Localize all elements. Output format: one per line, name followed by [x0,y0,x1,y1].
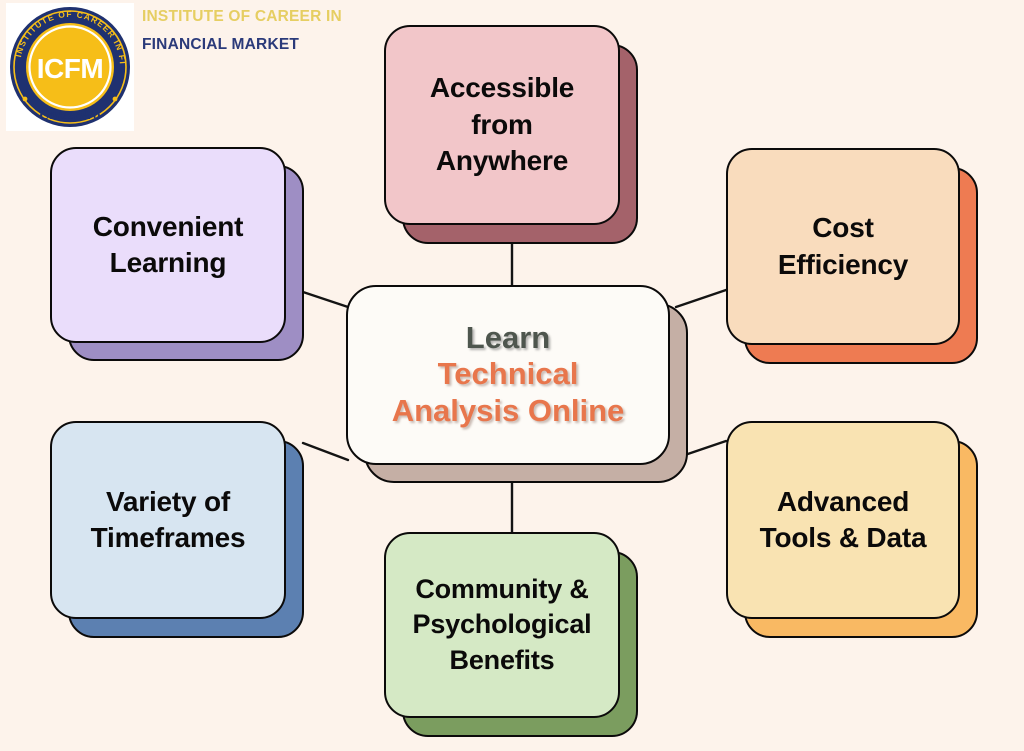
node-center-topic[interactable]: Learn Technical Analysis Online [346,285,670,465]
brand-line-1: INSTITUTE OF CAREER IN [142,7,342,26]
diagram-canvas: INSTITUTE OF CAREER IN FINANCIAL MARKET … [0,0,1024,751]
node-label-accessible-from-anywhere: Accessible from Anywhere [420,70,584,179]
node-community-and-psychological-benefits[interactable]: Community & Psychological Benefits [384,532,620,718]
icfm-logo: INSTITUTE OF CAREER IN FINANCIAL MARKET … [6,3,134,131]
brand-line-2: FINANCIAL MARKET [142,35,342,54]
center-label-line-1: Learn [466,320,550,356]
node-accessible-from-anywhere[interactable]: Accessible from Anywhere [384,25,620,225]
node-variety-of-timeframes[interactable]: Variety of Timeframes [50,421,286,619]
node-label-community-and-psychological-benefits: Community & Psychological Benefits [403,572,602,677]
node-label-advanced-tools-and-data: Advanced Tools & Data [750,484,937,557]
node-label-convenient-learning: Convenient Learning [83,209,253,282]
center-label-line-3: Analysis Online [392,393,625,430]
connector-center-to-bottom-left [303,443,348,460]
brand-header: INSTITUTE OF CAREER IN FINANCIAL MARKET … [0,0,380,140]
node-advanced-tools-and-data[interactable]: Advanced Tools & Data [726,421,960,619]
node-convenient-learning[interactable]: Convenient Learning [50,147,286,343]
node-cost-efficiency[interactable]: Cost Efficiency [726,148,960,345]
svg-text:CareerPro: CareerPro [40,108,101,123]
connector-center-to-top-left [303,292,348,307]
brand-text-block: INSTITUTE OF CAREER IN FINANCIAL MARKET [142,7,342,55]
svg-text:ICFM: ICFM [37,53,103,84]
node-label-variety-of-timeframes: Variety of Timeframes [81,484,256,557]
icfm-seal-icon: INSTITUTE OF CAREER IN FINANCIAL MARKET … [6,3,134,131]
connector-center-to-top-right [676,290,726,307]
node-label-cost-efficiency: Cost Efficiency [768,210,918,283]
center-label-line-2: Technical [438,356,579,393]
